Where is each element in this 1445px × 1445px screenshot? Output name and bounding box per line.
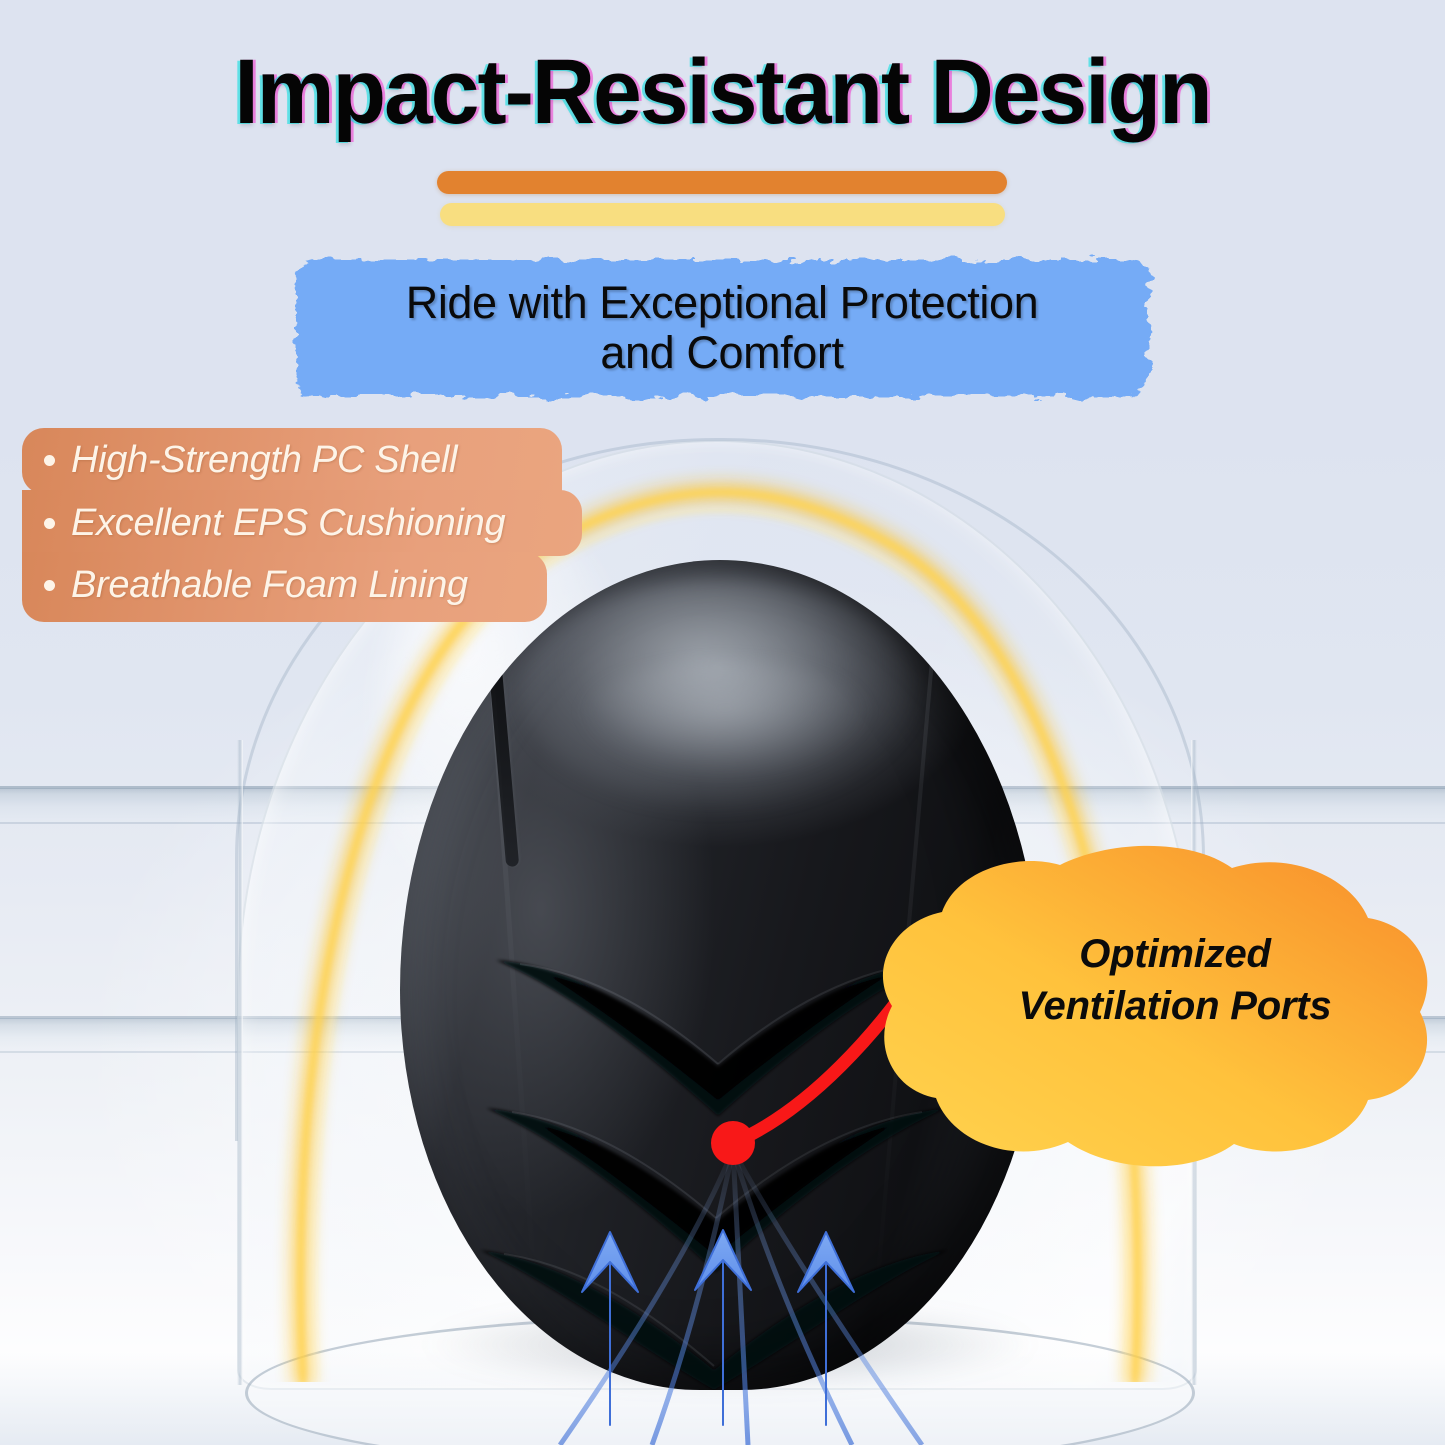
feature-label: Excellent EPS Cushioning [71, 502, 505, 545]
title-underline-yellow [440, 203, 1005, 226]
callout-line-1: Optimized [1079, 928, 1271, 980]
list-item: Excellent EPS Cushioning [22, 492, 582, 554]
bullet-dot-icon [44, 518, 55, 529]
list-item: Breathable Foam Lining [22, 554, 582, 616]
list-item: High-Strength PC Shell [22, 428, 582, 492]
product-infographic: Optimized Ventilation Ports Impact-Resis… [0, 0, 1445, 1445]
dome-rim-left [237, 740, 243, 1385]
feature-list: High-Strength PC Shell Excellent EPS Cus… [22, 428, 582, 616]
bullet-dot-icon [44, 580, 55, 591]
subtitle-line-2: and Comfort [600, 328, 843, 378]
feature-list-panel: High-Strength PC Shell Excellent EPS Cus… [22, 428, 582, 626]
feature-label: Breathable Foam Lining [71, 564, 468, 607]
subtitle-block: Ride with Exceptional Protection and Com… [296, 260, 1148, 396]
feature-label: High-Strength PC Shell [71, 439, 457, 482]
bullet-dot-icon [44, 455, 55, 466]
callout-text: Optimized Ventilation Ports [925, 855, 1425, 1105]
page-title: Impact-Resistant Design [36, 46, 1409, 138]
title-underline-orange [437, 171, 1007, 194]
callout-cloud: Optimized Ventilation Ports [925, 855, 1425, 1105]
subtitle-text: Ride with Exceptional Protection and Com… [296, 260, 1148, 396]
callout-line-2: Ventilation Ports [1019, 980, 1332, 1032]
subtitle-line-1: Ride with Exceptional Protection [406, 278, 1039, 328]
